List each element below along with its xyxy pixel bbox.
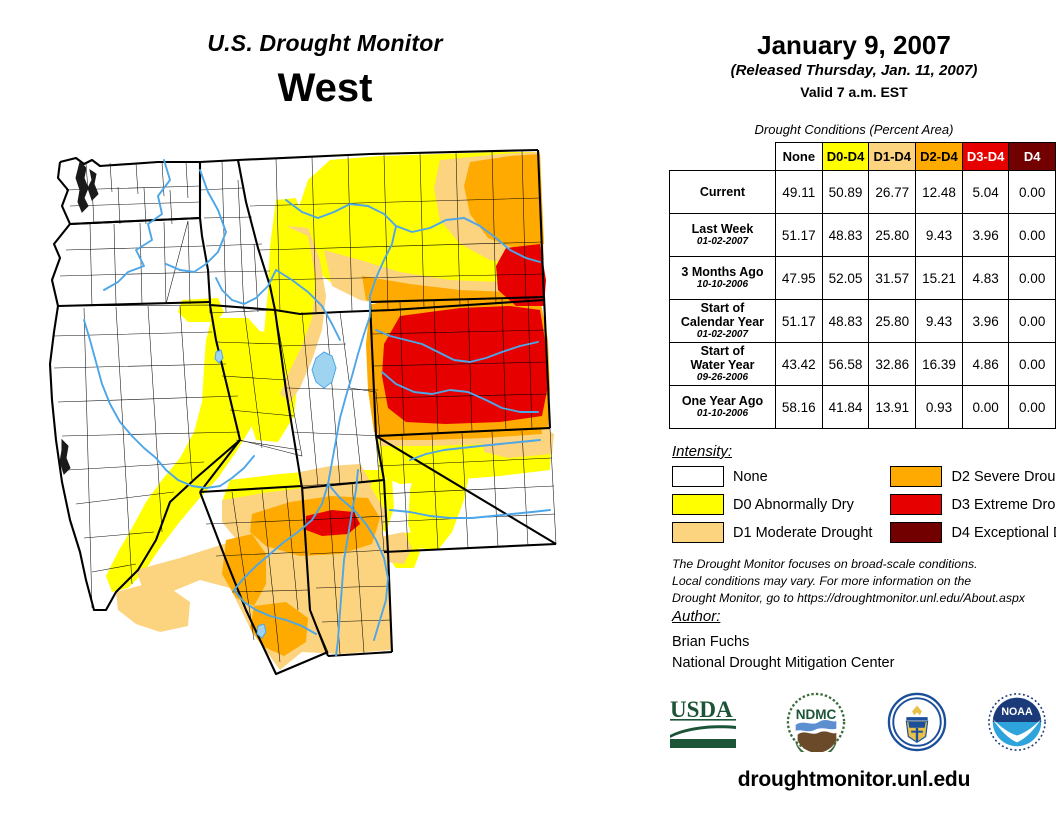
row-label-line: Calendar Year bbox=[673, 315, 772, 329]
table-caption: Drought Conditions (Percent Area) bbox=[664, 122, 1044, 137]
author-heading: Author: bbox=[672, 608, 720, 625]
table-cell-d2-d4: 12.48 bbox=[916, 171, 963, 214]
table-cell-d3-d4: 4.83 bbox=[962, 257, 1009, 300]
row-label: Start ofWater Year09-26-2006 bbox=[670, 343, 776, 386]
table-cell-none: 51.17 bbox=[775, 300, 822, 343]
ndmc-logo[interactable]: NDMC bbox=[785, 692, 847, 757]
author-org: National Drought Mitigation Center bbox=[672, 653, 894, 674]
row-label-date: 09-26-2006 bbox=[673, 372, 772, 383]
table-corner-cell bbox=[670, 143, 776, 171]
table-cell-d3-d4: 0.00 bbox=[962, 386, 1009, 429]
us-department-of-commerce-logo[interactable] bbox=[887, 692, 947, 757]
row-label-line: 3 Months Ago bbox=[673, 265, 772, 279]
disclaimer-note: The Drought Monitor focuses on broad-sca… bbox=[672, 556, 1044, 607]
legend-item: None bbox=[672, 466, 872, 487]
svg-text:NDMC: NDMC bbox=[796, 707, 837, 722]
table-cell-none: 43.42 bbox=[775, 343, 822, 386]
table-cell-d0-d4: 52.05 bbox=[822, 257, 869, 300]
legend-label: D1 Moderate Drought bbox=[733, 525, 872, 541]
col-header-d2-d4: D2-D4 bbox=[916, 143, 963, 171]
table-cell-d0-d4: 50.89 bbox=[822, 171, 869, 214]
legend-title: Intensity: bbox=[672, 443, 1044, 460]
table-cell-d4: 0.00 bbox=[1009, 343, 1056, 386]
legend-item: D1 Moderate Drought bbox=[672, 522, 872, 543]
table-cell-d1-d4: 32.86 bbox=[869, 343, 916, 386]
row-label-line: Start of bbox=[673, 301, 772, 315]
table-cell-d4: 0.00 bbox=[1009, 300, 1056, 343]
legend-label: D4 Exceptional Drought bbox=[951, 525, 1056, 541]
table-cell-none: 51.17 bbox=[775, 214, 822, 257]
author-block: Brian Fuchs National Drought Mitigation … bbox=[672, 632, 894, 673]
disclaimer-line-1: The Drought Monitor focuses on broad-sca… bbox=[672, 556, 1044, 573]
table-cell-d3-d4: 4.86 bbox=[962, 343, 1009, 386]
table-row: Start ofWater Year09-26-200643.4256.5832… bbox=[670, 343, 1056, 386]
legend-swatch bbox=[890, 466, 942, 487]
row-label-line: Start of bbox=[673, 344, 772, 358]
col-header-d3-d4: D3-D4 bbox=[962, 143, 1009, 171]
table-cell-d3-d4: 3.96 bbox=[962, 300, 1009, 343]
legend-label: D0 Abnormally Dry bbox=[733, 497, 854, 513]
table-cell-d2-d4: 16.39 bbox=[916, 343, 963, 386]
table-cell-d1-d4: 25.80 bbox=[869, 214, 916, 257]
col-header-d0-d4: D0-D4 bbox=[822, 143, 869, 171]
usda-logo[interactable]: USDA bbox=[668, 695, 746, 754]
table-cell-none: 49.11 bbox=[775, 171, 822, 214]
row-label: One Year Ago01-10-2006 bbox=[670, 386, 776, 429]
report-valid: Valid 7 a.m. EST bbox=[664, 84, 1044, 100]
table-cell-d0-d4: 41.84 bbox=[822, 386, 869, 429]
table-cell-d3-d4: 3.96 bbox=[962, 214, 1009, 257]
row-label-date: 01-02-2007 bbox=[673, 329, 772, 340]
legend-label: D2 Severe Drought bbox=[951, 469, 1056, 485]
table-row: Last Week01-02-200751.1748.8325.809.433.… bbox=[670, 214, 1056, 257]
disclaimer-line-3: Drought Monitor, go to https://droughtmo… bbox=[672, 590, 1044, 607]
table-cell-d1-d4: 26.77 bbox=[869, 171, 916, 214]
table-cell-d4: 0.00 bbox=[1009, 386, 1056, 429]
legend-swatch bbox=[672, 522, 724, 543]
table-row: One Year Ago01-10-200658.1641.8413.910.9… bbox=[670, 386, 1056, 429]
site-url[interactable]: droughtmonitor.unl.edu bbox=[664, 768, 1044, 792]
page-title-region: West bbox=[0, 66, 650, 111]
table-cell-d3-d4: 5.04 bbox=[962, 171, 1009, 214]
row-label: Last Week01-02-2007 bbox=[670, 214, 776, 257]
col-header-d1-d4: D1-D4 bbox=[869, 143, 916, 171]
row-label-date: 01-10-2006 bbox=[673, 408, 772, 419]
table-cell-d4: 0.00 bbox=[1009, 257, 1056, 300]
row-label-line: Water Year bbox=[673, 358, 772, 372]
author-name: Brian Fuchs bbox=[672, 632, 894, 653]
legend-swatch bbox=[890, 494, 942, 515]
table-cell-d4: 0.00 bbox=[1009, 171, 1056, 214]
svg-text:NOAA: NOAA bbox=[1001, 706, 1033, 718]
legend-swatch bbox=[890, 522, 942, 543]
table-row: 3 Months Ago10-10-200647.9552.0531.5715.… bbox=[670, 257, 1056, 300]
legend-item: D4 Exceptional Drought bbox=[890, 522, 1056, 543]
table-body: Current49.1150.8926.7712.485.040.00Last … bbox=[670, 171, 1056, 429]
row-label: 3 Months Ago10-10-2006 bbox=[670, 257, 776, 300]
us-drought-monitor-west-map[interactable] bbox=[40, 140, 660, 780]
table-cell-d0-d4: 56.58 bbox=[822, 343, 869, 386]
table-cell-d2-d4: 15.21 bbox=[916, 257, 963, 300]
table-cell-d1-d4: 25.80 bbox=[869, 300, 916, 343]
report-released: (Released Thursday, Jan. 11, 2007) bbox=[664, 62, 1044, 79]
row-label-line: Current bbox=[673, 185, 772, 199]
row-label-date: 01-02-2007 bbox=[673, 236, 772, 247]
col-header-d4: D4 bbox=[1009, 143, 1056, 171]
legend-label: D3 Extreme Drought bbox=[951, 497, 1056, 513]
table-cell-d0-d4: 48.83 bbox=[822, 300, 869, 343]
table-cell-d2-d4: 9.43 bbox=[916, 214, 963, 257]
table-cell-d2-d4: 0.93 bbox=[916, 386, 963, 429]
table-row: Current49.1150.8926.7712.485.040.00 bbox=[670, 171, 1056, 214]
intensity-legend: Intensity: NoneD2 Severe DroughtD0 Abnor… bbox=[672, 443, 1044, 543]
legend-label: None bbox=[733, 469, 768, 485]
drought-conditions-table: None D0-D4 D1-D4 D2-D4 D3-D4 D4 Current4… bbox=[669, 142, 1056, 429]
table-cell-d1-d4: 31.57 bbox=[869, 257, 916, 300]
disclaimer-line-2: Local conditions may vary. For more info… bbox=[672, 573, 1044, 590]
noaa-logo[interactable]: NOAA bbox=[986, 692, 1048, 757]
row-label-line: Last Week bbox=[673, 222, 772, 236]
table-cell-d4: 0.00 bbox=[1009, 214, 1056, 257]
table-row: Start ofCalendar Year01-02-200751.1748.8… bbox=[670, 300, 1056, 343]
table-cell-none: 47.95 bbox=[775, 257, 822, 300]
table-cell-none: 58.16 bbox=[775, 386, 822, 429]
row-label-line: One Year Ago bbox=[673, 394, 772, 408]
legend-item: D2 Severe Drought bbox=[890, 466, 1056, 487]
table-cell-d2-d4: 9.43 bbox=[916, 300, 963, 343]
row-label: Current bbox=[670, 171, 776, 214]
row-label: Start ofCalendar Year01-02-2007 bbox=[670, 300, 776, 343]
table-header-row: None D0-D4 D1-D4 D2-D4 D3-D4 D4 bbox=[670, 143, 1056, 171]
legend-swatch bbox=[672, 466, 724, 487]
col-header-none: None bbox=[775, 143, 822, 171]
svg-text:USDA: USDA bbox=[670, 697, 733, 722]
legend-item: D3 Extreme Drought bbox=[890, 494, 1056, 515]
table-cell-d1-d4: 13.91 bbox=[869, 386, 916, 429]
row-label-date: 10-10-2006 bbox=[673, 279, 772, 290]
legend-item: D0 Abnormally Dry bbox=[672, 494, 872, 515]
report-date: January 9, 2007 bbox=[664, 30, 1044, 61]
legend-swatch bbox=[672, 494, 724, 515]
page-title-product: U.S. Drought Monitor bbox=[0, 30, 650, 57]
partner-logos: USDA NDMC bbox=[668, 688, 1048, 760]
legend-grid: NoneD2 Severe DroughtD0 Abnormally DryD3… bbox=[672, 466, 1044, 543]
table-cell-d0-d4: 48.83 bbox=[822, 214, 869, 257]
